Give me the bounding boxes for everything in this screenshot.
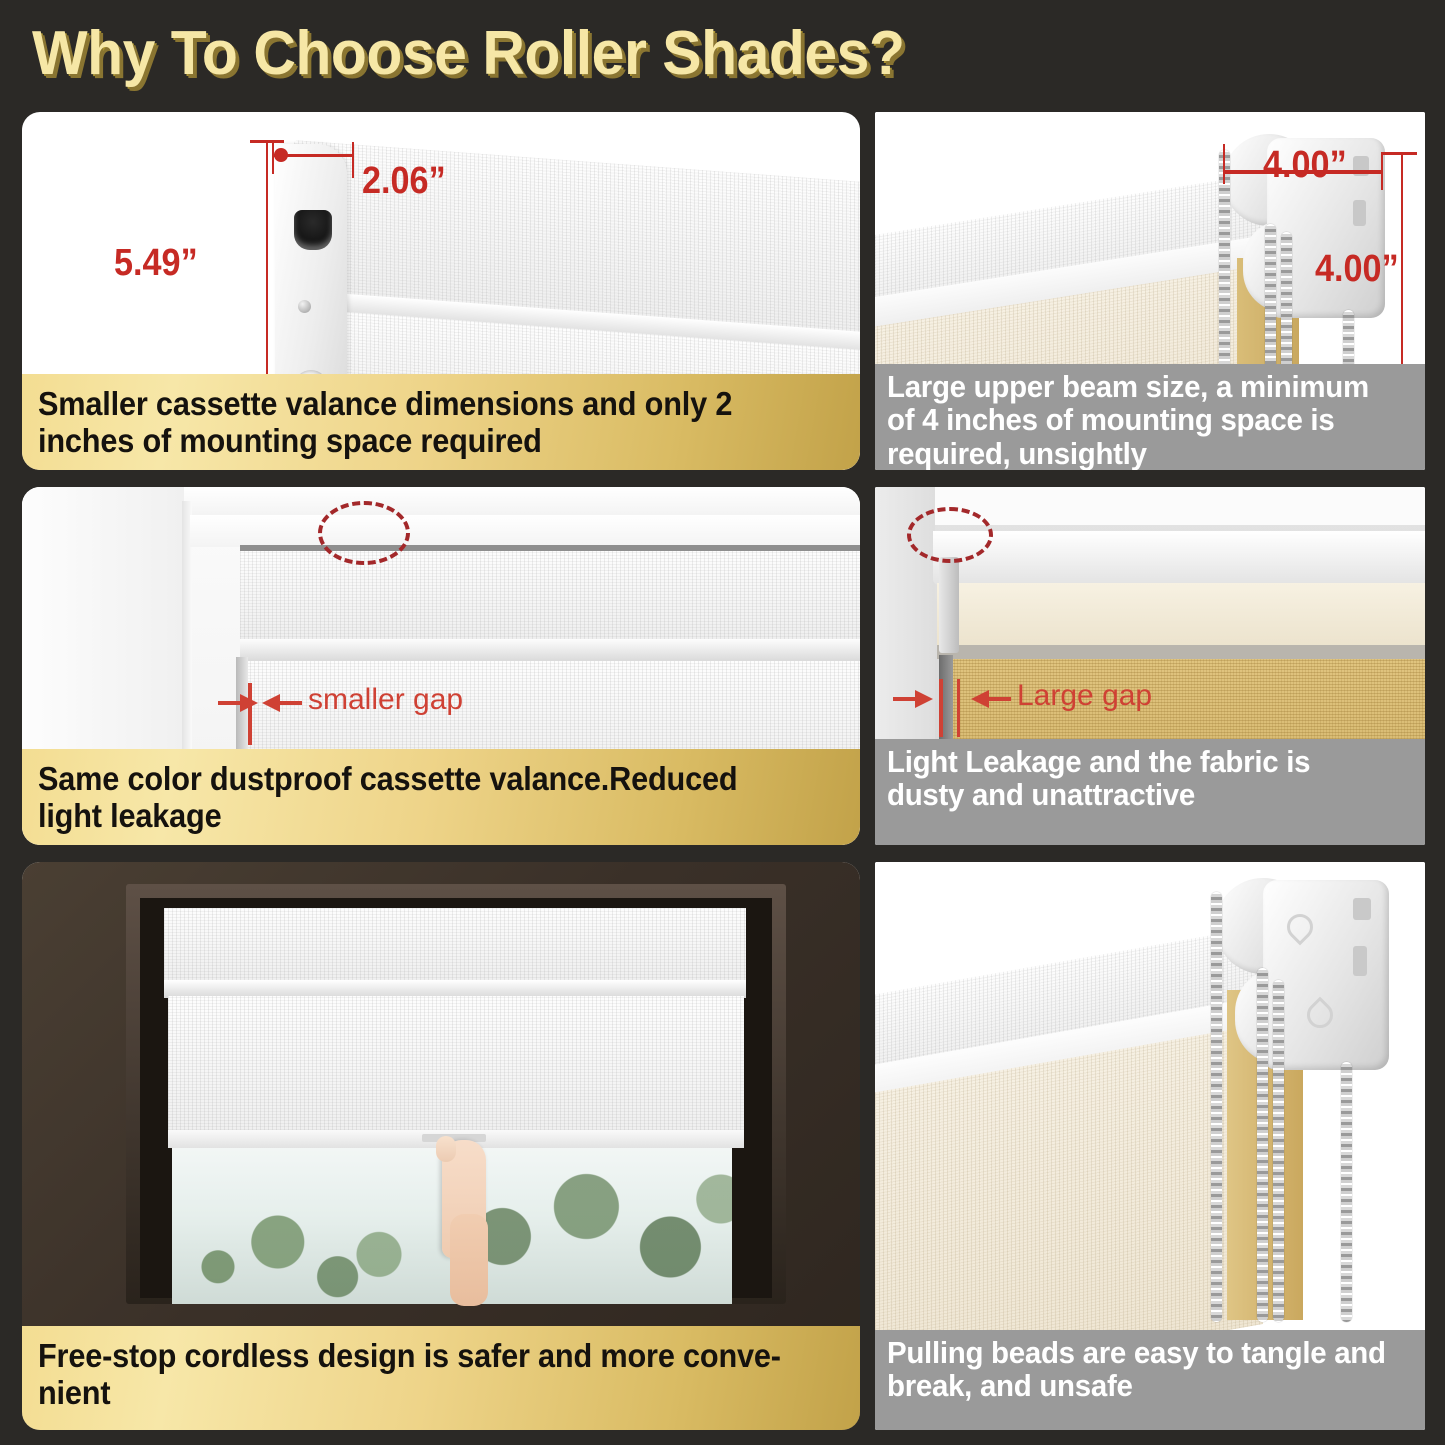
panel-dustproof-valance: smaller gap Same color dustproof cassett…: [22, 487, 860, 845]
tree-foliage-left: [172, 1180, 402, 1304]
header-bar: Why To Choose Roller Shades?: [0, 0, 1445, 104]
panel-5-caption-bar: Free-stop cordless design is safer and m…: [22, 1326, 860, 1430]
dim-height-top-tick: [250, 140, 284, 143]
panel-2-caption-bar: Large upper beam size, a minimum of 4 in…: [875, 364, 1425, 470]
cassette-valance: [164, 908, 746, 984]
mounting-slot: [294, 210, 332, 250]
panel-cassette-dimensions: 2.06” 5.49” Smaller cassette valance dim…: [22, 112, 860, 470]
dim-width-right-tick: [352, 142, 354, 178]
panel-3-caption-bar: Same color dustproof cassette valance.Re…: [22, 749, 860, 845]
panel-4-caption-text: Light Leakage and the fabric is dusty an…: [887, 745, 1387, 812]
detail-highlight-circle: [907, 507, 993, 563]
panel-5-caption-text: Free-stop cordless design is safer and m…: [38, 1338, 788, 1412]
bead-chain-1: [1211, 892, 1222, 1322]
gap-label-smaller: smaller gap: [308, 683, 463, 717]
panel-2-caption-text: Large upper beam size, a minimum of 4 in…: [887, 370, 1387, 470]
shade-fabric-panel: [168, 996, 744, 1142]
panel-1-caption-bar: Smaller cassette valance dimensions and …: [22, 374, 860, 470]
gap-marker-bar: [248, 683, 252, 745]
page-title: Why To Choose Roller Shades?: [32, 18, 904, 89]
headrail-tube: [933, 531, 1425, 585]
cassette-bottom-lip: [240, 639, 860, 661]
bead-chain-2: [1257, 968, 1268, 1322]
hand-thumb: [436, 1136, 456, 1162]
bracket-clip: [939, 557, 959, 653]
window-casing: [190, 515, 860, 547]
dim2-width-left-tick: [1223, 144, 1225, 184]
infographic-page: Why To Choose Roller Shades? 2.06” 5.: [0, 0, 1445, 1445]
gap-arrow-right-head: [915, 690, 933, 708]
panel-light-leakage: Large gap Light Leakage and the fabric i…: [875, 487, 1425, 845]
gap-arrow-left-head: [262, 694, 280, 712]
gap-arrow-right-head: [240, 694, 258, 712]
dim2-width-right-tick: [1381, 154, 1383, 190]
gap-arrow-right-stem: [280, 701, 302, 705]
panel-1-caption-text: Smaller cassette valance dimensions and …: [38, 386, 788, 460]
bracket-slot-b: [1353, 200, 1366, 226]
headrail-shadow-line: [937, 645, 1425, 659]
bracket-screw: [298, 300, 311, 313]
panel-6-caption-bar: Pulling beads are easy to tangle and bre…: [875, 1330, 1425, 1430]
bracket-slot-b: [1353, 946, 1367, 976]
dim2-height-top-tick: [1381, 152, 1417, 155]
panel-cordless-design: Free-stop cordless design is safer and m…: [22, 862, 860, 1430]
gap-arrow-left-stem: [893, 697, 917, 701]
bead-chain-3: [1273, 980, 1284, 1322]
gap-marker-bar: [939, 679, 943, 737]
detail-highlight-circle: [318, 501, 410, 565]
bracket-slot-a: [1353, 898, 1371, 920]
dim-height-label: 5.49”: [114, 242, 198, 285]
dim2-height-label: 4.00”: [1315, 248, 1399, 291]
panel-4-caption-bar: Light Leakage and the fabric is dusty an…: [875, 739, 1425, 845]
panel-6-caption-text: Pulling beads are easy to tangle and bre…: [887, 1336, 1387, 1403]
panel-large-upper-beam: 4.00” 4.00” Large upper beam size, a min…: [875, 112, 1425, 470]
gap-arrow-left-head: [971, 690, 989, 708]
cassette-valance-face: [240, 551, 860, 643]
dim-width-label: 2.06”: [362, 160, 446, 203]
gap-marker-bar-2: [957, 679, 960, 737]
tree-foliage-right: [452, 1154, 732, 1304]
dim-width-dot: [274, 148, 288, 162]
gap-arrow-left-stem: [218, 701, 242, 705]
bead-chain-4: [1341, 1062, 1352, 1322]
headrail-fabric-wrap: [937, 583, 1425, 647]
panel-pulling-beads: Pulling beads are easy to tangle and bre…: [875, 862, 1425, 1430]
hand-arm: [450, 1214, 488, 1306]
dim2-width-label: 4.00”: [1263, 144, 1347, 187]
gap-arrow-right-stem: [989, 697, 1011, 701]
gap-label-large: Large gap: [1017, 679, 1152, 713]
window-trim-left: [22, 487, 184, 787]
panel-3-caption-text: Same color dustproof cassette valance.Re…: [38, 761, 788, 835]
valance-end-cap: [275, 144, 347, 404]
